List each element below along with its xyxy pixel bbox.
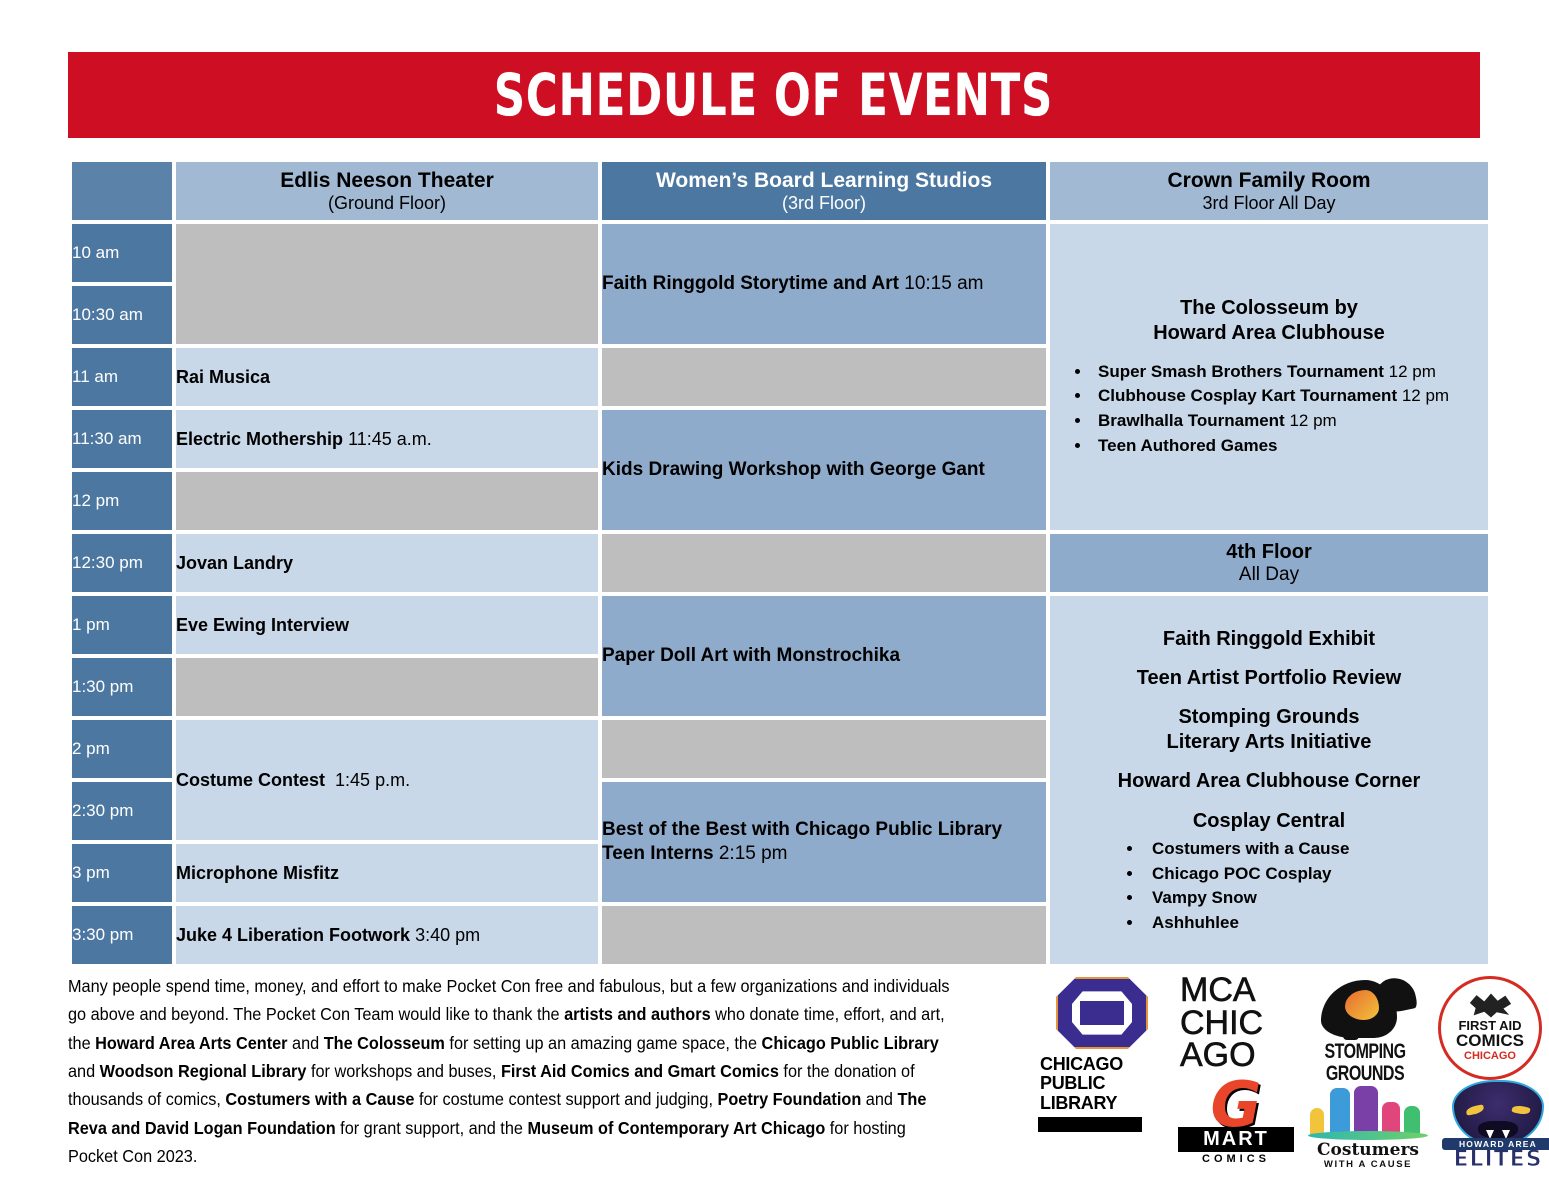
header-title: Edlis Neeson Theater: [176, 169, 598, 193]
sponsor-logos: CHICAGO PUBLIC LIBRARY MCA CHIC AGO G MA…: [1030, 972, 1480, 1172]
list-item: Clubhouse Cosplay Kart Tournament 12 pm: [1092, 384, 1488, 409]
title-banner: SCHEDULE OF EVENTS: [68, 52, 1480, 138]
time-label-1pm: 1 pm: [72, 596, 172, 654]
item-line1: Stomping Grounds: [1178, 706, 1359, 728]
event-time: 12 pm: [1289, 411, 1336, 430]
event-title: Eve Ewing Interview: [176, 615, 349, 635]
cpl-line3: LIBRARY: [1040, 1094, 1166, 1113]
panther-icon: [1452, 1080, 1544, 1146]
mca-line1: MCA: [1180, 974, 1292, 1007]
floor-sublabel: All Day: [1050, 564, 1488, 586]
cpl-line1: CHICAGO: [1040, 1055, 1166, 1074]
colosseum-title: The Colosseum by Howard Area Clubhouse: [1050, 296, 1488, 346]
ack-text: for costume contest support and judging,: [414, 1089, 717, 1109]
ack-bold: Poetry Foundation: [718, 1089, 862, 1109]
theater-empty-10am: [176, 224, 598, 344]
time-label-1030am: 10:30 am: [72, 286, 172, 344]
event-title: Faith Ringgold Storytime and Art: [602, 273, 899, 294]
event-title: Rai Musica: [176, 367, 270, 387]
cpl-octagon-icon: [1056, 977, 1148, 1049]
costumers-line2: WITH A CAUSE: [1302, 1159, 1434, 1170]
page-title: SCHEDULE OF EVENTS: [494, 61, 1053, 129]
colosseum-title-line2: Howard Area Clubhouse: [1153, 322, 1385, 344]
ack-text: for workshops and buses,: [306, 1061, 501, 1081]
event-label: Brawlhalla Tournament: [1098, 411, 1285, 430]
table-row: 12:30 pm Jovan Landry 4th Floor All Day: [72, 534, 1488, 592]
header-subtitle: (3rd Floor): [602, 193, 1046, 213]
footer: Many people spend time, money, and effor…: [68, 972, 1480, 1172]
costumed-figures-icon: [1302, 1084, 1434, 1142]
event-title: Juke 4 Liberation Footwork: [176, 925, 410, 945]
header-subtitle: 3rd Floor All Day: [1050, 193, 1488, 213]
colosseum-title-line1: The Colosseum by: [1180, 297, 1358, 319]
event-title: Kids Drawing Workshop with George Gant: [602, 459, 985, 480]
ack-bold: First Aid Comics and Gmart Comics: [501, 1061, 779, 1081]
time-label-10am: 10 am: [72, 224, 172, 282]
event-time: 12 pm: [1389, 362, 1436, 381]
mca-line2: CHIC: [1180, 1007, 1292, 1040]
list-item: Brawlhalla Tournament 12 pm: [1092, 409, 1488, 434]
event-label: Teen Authored Games: [1098, 436, 1277, 455]
header-crown-family-room: Crown Family Room 3rd Floor All Day: [1050, 162, 1488, 220]
list-item: Costumers with a Cause: [1144, 837, 1480, 862]
cosplay-central-list: Costumers with a Cause Chicago POC Cospl…: [1058, 837, 1480, 936]
header-title: Women’s Board Learning Studios: [602, 169, 1046, 193]
mca-chicago-logo: MCA CHIC AGO: [1180, 974, 1292, 1072]
ack-bold: Costumers with a Cause: [225, 1089, 414, 1109]
ack-bold: artists and authors: [564, 1004, 711, 1024]
event-title: Costume Contest: [176, 770, 325, 790]
event-title: Microphone Misfitz: [176, 863, 339, 883]
ack-bold: Museum of Contemporary Art Chicago: [527, 1118, 825, 1138]
list-item: Teen Authored Games: [1092, 434, 1488, 459]
event-label: Super Smash Brothers Tournament: [1098, 362, 1384, 381]
gmart-mart-label: MART: [1178, 1127, 1294, 1152]
theater-eve-ewing-interview: Eve Ewing Interview: [176, 596, 598, 654]
howard-area-elites-logo: HOWARD AREA ELITES: [1442, 1080, 1549, 1171]
floor4-item-stomping-grounds: Stomping Grounds Literary Arts Initiativ…: [1058, 705, 1480, 754]
elites-line2: ELITES: [1442, 1149, 1549, 1171]
theater-electric-mothership: Electric Mothership 11:45 a.m.: [176, 410, 598, 468]
event-time: 10:15 am: [904, 273, 983, 294]
time-label-3pm: 3 pm: [72, 844, 172, 902]
gmart-g-icon: G: [1178, 1080, 1294, 1131]
ack-text: and: [861, 1089, 897, 1109]
header-womens-board-learning-studios: Women’s Board Learning Studios (3rd Floo…: [602, 162, 1046, 220]
table-row: 10 am Faith Ringgold Storytime and Art 1…: [72, 224, 1488, 282]
studios-empty-1230pm: [602, 534, 1046, 592]
table-header-row: Edlis Neeson Theater (Ground Floor) Wome…: [72, 162, 1488, 220]
costumers-line1: Costumers: [1302, 1142, 1434, 1159]
acknowledgment-paragraph: Many people spend time, money, and effor…: [68, 972, 953, 1172]
theater-rai-musica: Rai Musica: [176, 348, 598, 406]
list-item: Chicago POC Cosplay: [1144, 862, 1480, 887]
time-label-230pm: 2:30 pm: [72, 782, 172, 840]
floor4-item-faith-ringgold-exhibit: Faith Ringgold Exhibit: [1058, 627, 1480, 651]
floor4-item-howard-area-clubhouse-corner: Howard Area Clubhouse Corner: [1058, 769, 1480, 793]
firstaid-line2: COMICS: [1456, 1032, 1524, 1050]
ack-bold: The Colosseum: [324, 1033, 445, 1053]
studios-empty-330pm: [602, 906, 1046, 964]
event-time: 12 pm: [1402, 386, 1449, 405]
cpl-bar-icon: [1038, 1117, 1142, 1132]
header-blank-cell: [72, 162, 172, 220]
event-time: 11:45 a.m.: [348, 429, 432, 449]
header-title: Crown Family Room: [1050, 169, 1488, 193]
theater-empty-12pm: [176, 472, 598, 530]
first-aid-comics-logo: FIRST AID COMICS CHICAGO: [1438, 976, 1548, 1080]
theater-costume-contest: Costume Contest 1:45 p.m.: [176, 720, 598, 840]
time-label-11am: 11 am: [72, 348, 172, 406]
event-title: Best of the Best with Chicago Public Lib…: [602, 819, 1002, 864]
time-label-12pm: 12 pm: [72, 472, 172, 530]
ack-bold: Woodson Regional Library: [100, 1061, 307, 1081]
event-title: Jovan Landry: [176, 553, 293, 573]
stomping-line1: STOMPING: [1306, 1042, 1424, 1064]
list-item: Super Smash Brothers Tournament 12 pm: [1092, 360, 1488, 385]
first-aid-badge-icon: FIRST AID COMICS CHICAGO: [1438, 976, 1542, 1080]
item-line2: Literary Arts Initiative: [1167, 731, 1372, 753]
ack-text: for grant support, and the: [336, 1118, 528, 1138]
ack-bold: Howard Area Arts Center: [95, 1033, 287, 1053]
theater-jovan-landry: Jovan Landry: [176, 534, 598, 592]
crown-4th-floor-body: Faith Ringgold Exhibit Teen Artist Portf…: [1050, 596, 1488, 964]
list-item: Vampy Snow: [1144, 886, 1480, 911]
gmart-comics-logo: G MART COMICS: [1178, 1080, 1294, 1165]
crown-colosseum-block: The Colosseum by Howard Area Clubhouse S…: [1050, 224, 1488, 530]
ack-text: and: [288, 1033, 324, 1053]
elephant-icon: [1317, 974, 1413, 1040]
time-label-1230pm: 12:30 pm: [72, 534, 172, 592]
time-label-2pm: 2 pm: [72, 720, 172, 778]
studios-best-of-the-best: Best of the Best with Chicago Public Lib…: [602, 782, 1046, 902]
firstaid-line3: CHICAGO: [1464, 1050, 1516, 1063]
gmart-comics-label: COMICS: [1178, 1153, 1294, 1165]
theater-microphone-misfitz: Microphone Misfitz: [176, 844, 598, 902]
costumers-with-a-cause-logo: Costumers WITH A CAUSE: [1302, 1084, 1434, 1170]
event-title: Paper Doll Art with Monstrochika: [602, 645, 900, 666]
stomping-line2: GROUNDS: [1306, 1064, 1424, 1086]
ack-text: for setting up an amazing game space, th…: [445, 1033, 762, 1053]
studios-kids-drawing-workshop: Kids Drawing Workshop with George Gant: [602, 410, 1046, 530]
comic-burst-icon: [1466, 992, 1514, 1018]
elites-line1: HOWARD AREA: [1442, 1138, 1549, 1150]
chicago-public-library-logo: CHICAGO PUBLIC LIBRARY: [1038, 977, 1166, 1132]
time-label-130pm: 1:30 pm: [72, 658, 172, 716]
stomping-grounds-logo: STOMPING GROUNDS: [1306, 974, 1424, 1074]
studios-paper-doll-art: Paper Doll Art with Monstrochika: [602, 596, 1046, 716]
event-time: 2:15 pm: [719, 843, 788, 864]
studios-faith-ringgold-storytime: Faith Ringgold Storytime and Art 10:15 a…: [602, 224, 1046, 344]
event-label: Clubhouse Cosplay Kart Tournament: [1098, 386, 1397, 405]
list-item: Ashhuhlee: [1144, 911, 1480, 936]
floor4-item-teen-artist-portfolio-review: Teen Artist Portfolio Review: [1058, 666, 1480, 690]
event-title: Electric Mothership: [176, 429, 343, 449]
schedule-table: Edlis Neeson Theater (Ground Floor) Wome…: [68, 158, 1492, 968]
cpl-wordmark: CHICAGO PUBLIC LIBRARY: [1038, 1055, 1166, 1113]
floor-label: 4th Floor: [1050, 541, 1488, 564]
event-time: 3:40 pm: [415, 925, 480, 945]
ack-bold: Chicago Public Library: [762, 1033, 939, 1053]
theater-empty-130pm: [176, 658, 598, 716]
table-row: 1 pm Eve Ewing Interview Paper Doll Art …: [72, 596, 1488, 654]
theater-juke-4-liberation-footwork: Juke 4 Liberation Footwork 3:40 pm: [176, 906, 598, 964]
header-edlis-neeson-theater: Edlis Neeson Theater (Ground Floor): [176, 162, 598, 220]
colosseum-event-list: Super Smash Brothers Tournament 12 pm Cl…: [1050, 360, 1488, 459]
floor4-content: Faith Ringgold Exhibit Teen Artist Portf…: [1050, 617, 1488, 944]
header-subtitle: (Ground Floor): [176, 193, 598, 213]
ack-text: and: [68, 1061, 100, 1081]
studios-empty-11am: [602, 348, 1046, 406]
crown-4th-floor-header: 4th Floor All Day: [1050, 534, 1488, 592]
studios-empty-2pm: [602, 720, 1046, 778]
floor4-item-cosplay-central: Cosplay Central: [1058, 809, 1480, 833]
cpl-line2: PUBLIC: [1040, 1074, 1166, 1093]
time-label-330pm: 3:30 pm: [72, 906, 172, 964]
stomping-grounds-wordmark: STOMPING GROUNDS: [1306, 1042, 1424, 1085]
time-label-1130am: 11:30 am: [72, 410, 172, 468]
mca-line3: AGO: [1180, 1039, 1292, 1072]
event-time: 1:45 p.m.: [335, 770, 410, 790]
schedule-page: SCHEDULE OF EVENTS Edlis Neeson Theater …: [0, 0, 1549, 1200]
